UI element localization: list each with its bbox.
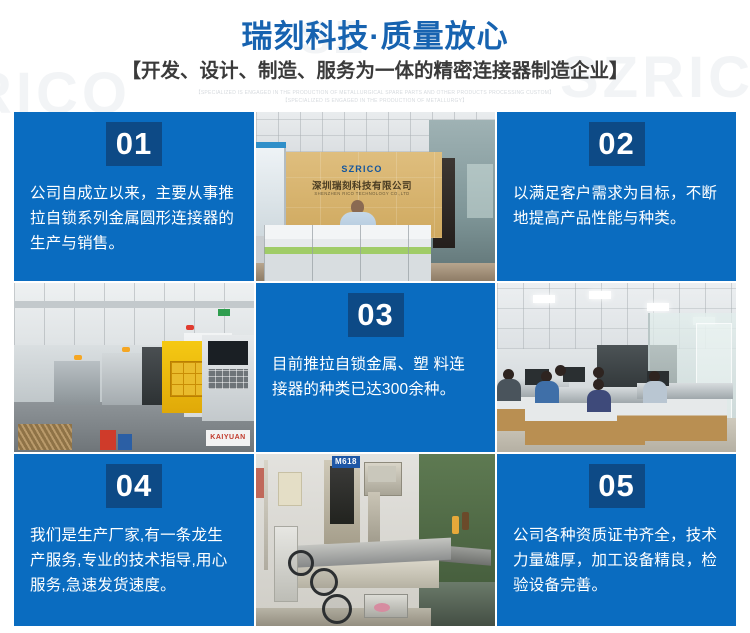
timber-stack	[18, 424, 72, 450]
photo-cnc-workshop: KAIYUAN	[14, 283, 254, 452]
szrico-logo: SZRICO	[324, 164, 400, 174]
monitor-2	[563, 367, 585, 382]
grinder-column-slot	[330, 466, 354, 524]
english-tagline-2: 【SPECIALIZED IS ENGAGED IN THE PRODUCTIO…	[0, 98, 750, 106]
feature-text-01: 公司自成立以来，主要从事推拉自锁系列金属圆形连接器的生产与销售。	[14, 166, 254, 256]
exit-sign	[218, 309, 230, 316]
counter-panel-seams	[264, 225, 431, 281]
employee-head-5	[555, 365, 566, 376]
handwheel-3	[322, 594, 352, 624]
oil-bottle-2	[462, 512, 469, 530]
feature-cell-04: 04 我们是生产厂家,有一条龙生产服务,专业的技术指导,用心服务,急速发货速度。	[14, 454, 254, 626]
employee-body-3	[587, 390, 611, 412]
ceiling-light-2	[589, 291, 611, 299]
feature-text-04: 我们是生产厂家,有一条龙生产服务,专业的技术指导,用心服务,急速发货速度。	[14, 508, 254, 598]
badge-number-04: 04	[106, 464, 162, 508]
ceiling-beam	[14, 301, 254, 308]
badge-number-02: 02	[589, 122, 645, 166]
feature-cell-01: 01 公司自成立以来，主要从事推拉自锁系列金属圆形连接器的生产与销售。	[14, 112, 254, 281]
employee-body-4	[643, 381, 667, 403]
control-box-face	[368, 466, 396, 482]
page-title: 瑞刻科技·质量放心	[0, 0, 750, 57]
company-name-cn: 深圳瑞刻科技有限公司	[300, 178, 424, 192]
feature-cell-02: 02 以满足客户需求为目标，不断地提高产品性能与种类。	[497, 112, 736, 281]
feature-cell-05: 05 公司各种资质证书齐全，技术力量雄厚，加工设备精良，检验设备完善。	[497, 454, 736, 626]
glass-reflection	[467, 164, 493, 218]
wall-pipe	[264, 460, 268, 570]
status-lamp-2	[122, 347, 130, 352]
status-lamp-1	[74, 355, 82, 360]
feature-grid: 01 公司自成立以来，主要从事推拉自锁系列金属圆形连接器的生产与销售。 SZRI…	[14, 112, 736, 626]
employee-body-2	[535, 381, 559, 403]
english-tagline-block: 【SPECIALIZED IS ENGAGED IN THE PRODUCTIO…	[0, 90, 750, 106]
page-subtitle: 【开发、设计、制造、服务为一体的精密连接器制造企业】	[0, 59, 750, 84]
employee-head-6	[593, 367, 604, 378]
photo-reception: SZRICO 深圳瑞刻科技有限公司 SHENZHEN RICO TECHNOLO…	[256, 112, 495, 281]
window	[256, 148, 286, 236]
feature-text-02: 以满足客户需求为目标，不断地提高产品性能与种类。	[497, 166, 736, 231]
handwheel-2	[310, 568, 338, 596]
badge-number-05: 05	[589, 464, 645, 508]
wall-notice-sheet	[278, 472, 302, 506]
red-bin	[100, 430, 116, 450]
feature-text-03: 目前推拉自锁金属、塑 料连接器的种类已达300余种。	[256, 337, 495, 402]
ceiling-light-1	[533, 295, 555, 303]
machine-model-plate: M618	[332, 456, 360, 468]
status-lamp-3	[186, 325, 194, 330]
badge-number-03: 03	[348, 293, 404, 337]
oil-bottle-1	[452, 516, 459, 534]
english-tagline-1: 【SPECIALIZED IS ENGAGED IN THE PRODUCTIO…	[0, 90, 750, 98]
machine-far-1	[54, 361, 100, 405]
cnc-keypad	[208, 369, 248, 389]
employee-body-1	[497, 379, 521, 401]
ceiling-light-3	[647, 303, 669, 311]
employee-head-3	[593, 379, 604, 390]
photo-grinder: M618	[256, 454, 495, 626]
photo-office	[497, 283, 736, 452]
grinder-stand	[368, 492, 380, 548]
company-name-en: SHENZHEN RICO TECHNOLOGY CO.,LTD	[300, 191, 424, 196]
page-header: 瑞刻科技·质量放心 【开发、设计、制造、服务为一体的精密连接器制造企业】 【SP…	[0, 0, 750, 112]
feature-text-05: 公司各种资质证书齐全，技术力量雄厚，加工设备精良，检验设备完善。	[497, 508, 736, 598]
cnc-display-screen	[208, 341, 248, 365]
badge-number-01: 01	[106, 122, 162, 166]
grinding-disc	[374, 603, 390, 612]
blue-bin	[118, 434, 132, 450]
machine-brand-label: KAIYUAN	[206, 430, 250, 446]
feature-cell-03: 03 目前推拉自锁金属、塑 料连接器的种类已达300余种。	[256, 283, 495, 452]
handwheel-1	[288, 550, 314, 576]
